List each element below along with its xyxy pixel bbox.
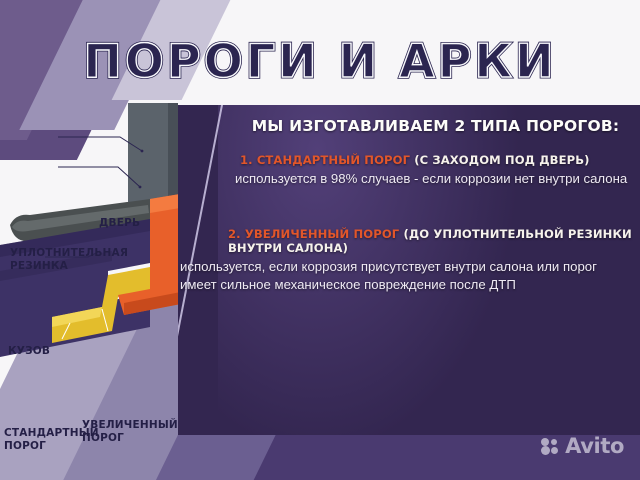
avito-watermark: Avito [541,434,624,458]
sill-type-1-accent: СТАНДАРТНЫЙ ПОРОГ [257,153,410,167]
poster: ПОРОГИ И АРКИ ПОРОГИ И АРКИ [0,0,640,480]
page-title: ПОРОГИ И АРКИ ПОРОГИ И АРКИ [0,30,640,92]
diagram-label-body: КУЗОВ [8,345,50,358]
sill-type-2-accent: УВЕЛИЧЕННЫЙ ПОРОГ [245,227,399,241]
diagram-label-seal: УПЛОТНИТЕЛЬНАЯ РЕЗИНКА [10,247,120,273]
sill-type-1-body: используется в 98% случаев - если корроз… [235,170,640,188]
sill-type-item-2: 2. УВЕЛИЧЕННЫЙ ПОРОГ (ДО УПЛОТНИТЕЛЬНОЙ … [228,227,640,293]
avito-wordmark: Avito [565,434,624,458]
diagram-label-enlarged-sill: УВЕЛИЧЕННЫЙ ПОРОГ [82,419,152,445]
sill-type-item-1: 1. СТАНДАРТНЫЙ ПОРОГ (С ЗАХОДОМ ПОД ДВЕР… [240,153,640,188]
info-panel-text: МЫ ИЗГОТАВЛИВАЕМ 2 ТИПА ПОРОГОВ: 1. СТАН… [178,105,640,435]
diagram-label-standard-sill: СТАНДАРТНЫЙ ПОРОГ [4,427,84,453]
diagram-label-door: ДВЕРЬ [99,217,140,230]
sill-type-1-qualifier: (С ЗАХОДОМ ПОД ДВЕРЬ) [414,153,589,167]
sill-type-1-number: 1. [240,153,253,167]
sill-type-1-headline: 1. СТАНДАРТНЫЙ ПОРОГ (С ЗАХОДОМ ПОД ДВЕР… [240,153,640,167]
sill-type-2-headline: 2. УВЕЛИЧЕННЫЙ ПОРОГ (ДО УПЛОТНИТЕЛЬНОЙ … [228,227,640,255]
sill-type-2-body: используется, если коррозия присутствует… [180,258,600,293]
avito-logo-icon [541,438,559,454]
panel-heading: МЫ ИЗГОТАВЛИВАЕМ 2 ТИПА ПОРОГОВ: [238,117,633,135]
page-title-outline: ПОРОГИ И АРКИ [0,30,640,92]
sill-type-2-number: 2. [228,227,241,241]
